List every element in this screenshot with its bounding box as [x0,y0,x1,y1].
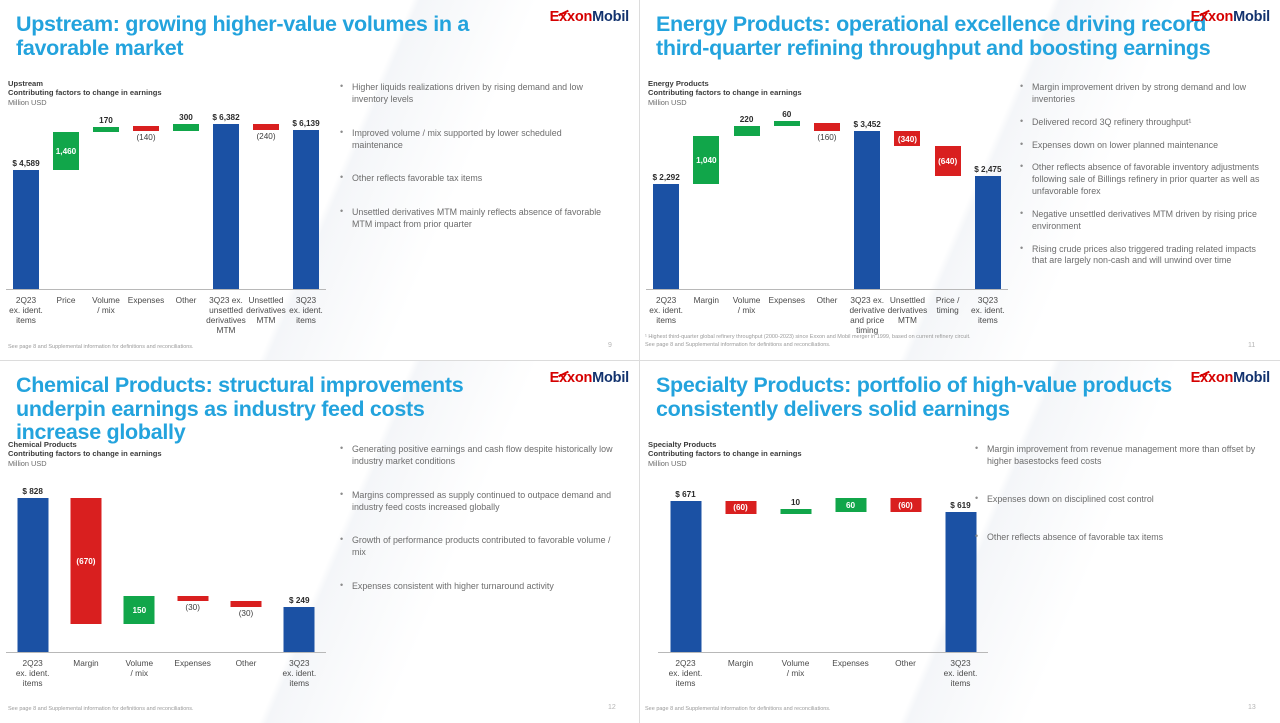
chart-column: $ 6,382 [206,108,246,290]
waterfall-chart: $ 671(60)1060(60)$ 619 [658,483,988,653]
chart-category-cell: Margin [713,656,768,706]
chart-category-row: 2Q23 ex. ident. itemsMarginVolume / mixE… [658,656,988,706]
chart-baseline-axis [6,652,326,653]
page-title: Specialty Products: portfolio of high-va… [656,374,1216,421]
bullet-dot-icon: • [340,580,343,592]
chart-bar[interactable] [213,124,239,290]
chart-category-label: Expenses [820,658,882,668]
chart-bar-value-label: (60) [898,501,913,510]
bullet-dot-icon: • [1020,139,1023,151]
bullet-dot-icon: • [975,531,978,543]
bullet-dot-icon: • [340,127,343,139]
slide-energy-products[interactable]: ExxonMobil Energy Products: operational … [640,0,1280,361]
chart-bar-value-label: (60) [733,503,748,512]
bullet-list: •Margin improvement from revenue managem… [973,444,1258,569]
chart-bar[interactable] [133,126,159,131]
chart-bar-value-label: (140) [136,133,155,142]
chart-column: 60 [823,483,878,653]
chart-category-cell: 2Q23 ex. ident. items [658,656,713,706]
chart-caption-line2: Contributing factors to change in earnin… [8,88,162,97]
bullet-item: •Other reflects favorable tax items [338,173,613,185]
page-number: 9 [608,342,612,349]
chart-column: $ 828 [6,483,59,653]
bullet-text: Margins compressed as supply continued t… [352,490,611,512]
chart-category-axis: 2Q23 ex. ident. itemsPriceVolume / mixEx… [6,293,326,343]
chart-bar-value-label: $ 4,589 [12,159,39,168]
chart-bar[interactable] [975,176,1001,290]
bullet-list: •Higher liquids realizations driven by r… [338,82,613,253]
chart-column: (140) [126,108,166,290]
chart-category-label: 3Q23 ex. ident. items [268,658,330,688]
chart-bar-value-label: $ 2,292 [652,173,679,182]
chart-category-row: 2Q23 ex. ident. itemsMarginVolume / mixE… [6,656,326,706]
chart-caption: Energy Products Contributing factors to … [648,79,802,107]
chart-bar-value-label: (30) [239,609,254,618]
chart-bar[interactable] [653,184,679,290]
chart-bar-value-label: $ 6,139 [292,119,319,128]
bullet-text: Generating positive earnings and cash fl… [352,444,612,466]
chart-bar[interactable] [670,501,701,653]
chart-bar[interactable] [230,601,261,607]
exxonmobil-logo: ExxonMobil [1191,9,1270,25]
chart-caption-line1: Energy Products [648,79,802,88]
bullet-text: Other reflects favorable tax items [352,173,482,183]
chart-bar[interactable] [945,512,976,653]
chart-bar-value-label: (340) [898,135,917,144]
bullet-dot-icon: • [1020,208,1023,220]
chart-bars: $ 671(60)1060(60)$ 619 [658,483,988,653]
bullet-text: Growth of performance products contribut… [352,535,611,557]
chart-caption-units: Million USD [648,459,802,468]
bullet-dot-icon: • [340,206,343,218]
chart-caption-line1: Specialty Products [648,440,802,449]
chart-column: 60 [767,108,807,290]
footnote: See page 8 and Supplemental information … [8,344,338,352]
chart-column: 150 [113,483,166,653]
chart-bar-value-label: 60 [782,110,791,119]
chart-bar[interactable] [774,121,800,126]
chart-bars: $ 2,2921,04022060(160)$ 3,452(340)(640)$… [646,108,1008,290]
chart-bars: $ 828(670)150(30)(30)$ 249 [6,483,326,653]
chart-bars: $ 4,5891,460170(140)300$ 6,382(240)$ 6,1… [6,108,326,290]
chart-category-cell: Margin [59,656,112,706]
chart-category-axis: 2Q23 ex. ident. itemsMarginVolume / mixE… [6,656,326,706]
chart-caption-line1: Upstream [8,79,162,88]
chart-column: $ 249 [273,483,326,653]
waterfall-chart: $ 4,5891,460170(140)300$ 6,382(240)$ 6,1… [6,108,326,290]
chart-column: (160) [807,108,847,290]
bullet-text: Negative unsettled derivatives MTM drive… [1032,209,1257,231]
chart-bar-value-label: 170 [99,116,113,125]
chart-category-cell: Other [878,656,933,706]
bullet-item: •Generating positive earnings and cash f… [338,444,613,468]
chart-column: $ 2,292 [646,108,686,290]
chart-caption: Chemical Products Contributing factors t… [8,440,162,468]
chart-bar[interactable] [284,607,315,653]
chart-category-label: Volume / mix [765,658,827,678]
chart-caption-units: Million USD [8,459,162,468]
bullet-item: •Delivered record 3Q refinery throughput… [1018,117,1268,129]
chart-bar-value-label: (670) [76,557,95,566]
chart-category-label: 2Q23 ex. ident. items [655,658,717,688]
bullet-item: •Expenses consistent with higher turnaro… [338,581,613,593]
bullet-item: •Higher liquids realizations driven by r… [338,82,613,106]
chart-caption-line1: Chemical Products [8,440,162,449]
bullet-item: •Other reflects absence of favorable tax… [973,532,1258,544]
bullet-item: •Negative unsettled derivatives MTM driv… [1018,209,1268,233]
chart-baseline-axis [646,289,1008,290]
bullet-dot-icon: • [975,443,978,455]
chart-column: 170 [86,108,126,290]
bullet-dot-icon: • [340,534,343,546]
chart-column: $ 2,475 [968,108,1008,290]
bullet-item: •Other reflects absence of favorable inv… [1018,162,1268,198]
bullet-item: •Rising crude prices also triggered trad… [1018,244,1268,268]
page-number: 13 [1248,704,1256,711]
chart-column: (340) [887,108,927,290]
chart-bar[interactable] [814,123,840,130]
chart-category-cell: 3Q23 ex. ident. items [933,656,988,706]
slide-specialty-products[interactable]: ExxonMobil Specialty Products: portfolio… [640,361,1280,723]
chart-bar-value-label: $ 2,475 [974,165,1001,174]
chart-bar[interactable] [17,498,48,653]
chart-bar-value-label: $ 6,382 [212,113,239,122]
chart-bar-value-label: 150 [132,606,146,615]
chart-column: 300 [166,108,206,290]
bullet-list: •Margin improvement driven by strong dem… [1018,82,1268,278]
chart-baseline-axis [6,289,326,290]
bullet-dot-icon: • [1020,116,1023,128]
chart-bar-value-label: 220 [740,115,754,124]
chart-caption-line2: Contributing factors to change in earnin… [648,449,802,458]
chart-bar-value-label: $ 619 [950,501,971,510]
chart-bar-value-label: 10 [791,498,800,507]
chart-caption-units: Million USD [648,98,802,107]
waterfall-chart: $ 2,2921,04022060(160)$ 3,452(340)(640)$… [646,108,1008,290]
chart-plot-area: $ 671(60)1060(60)$ 619 [658,483,988,653]
chart-bar-value-label: (30) [185,603,200,612]
chart-bar-value-label: $ 249 [289,596,310,605]
bullet-text: Rising crude prices also triggered tradi… [1032,244,1256,266]
chart-category-label: Margin [710,658,772,668]
bullet-text: Margin improvement driven by strong dema… [1032,82,1246,104]
chart-bar-value-label: 1,040 [696,156,717,165]
exxonmobil-logo: ExxonMobil [550,9,629,25]
exxonmobil-logo: ExxonMobil [1191,370,1270,386]
chart-column: 220 [726,108,766,290]
chart-baseline-axis [658,652,988,653]
exxonmobil-logo: ExxonMobil [550,370,629,386]
bullet-text: Expenses down on disciplined cost contro… [987,494,1154,504]
chart-category-label: 3Q23 ex. ident. items [930,658,992,688]
page-title: Chemical Products: structural improvemen… [16,374,486,445]
chart-category-label: 3Q23 ex. ident. items [275,295,337,325]
bullet-item: •Improved volume / mix supported by lowe… [338,128,613,152]
chart-bar[interactable] [93,127,119,132]
footnote: ¹ Highest third-quarter global refinery … [645,334,1025,350]
bullet-dot-icon: • [1020,161,1023,173]
page-number: 12 [608,704,616,711]
chart-caption: Specialty Products Contributing factors … [648,440,802,468]
chart-bar-value-label: (240) [256,132,275,141]
chart-category-cell: Volume / mix [113,656,166,706]
bullet-text: Unsettled derivatives MTM mainly reflect… [352,207,601,229]
chart-caption-units: Million USD [8,98,162,107]
chart-category-cell: Expenses [823,656,878,706]
bullet-text: Other reflects absence of favorable tax … [987,532,1163,542]
chart-category-cell: 3Q23 ex. ident. items [273,656,326,706]
bullet-list: •Generating positive earnings and cash f… [338,444,613,615]
chart-column: (240) [246,108,286,290]
bullet-dot-icon: • [1020,81,1023,93]
chart-bar[interactable] [13,170,39,290]
bullet-item: •Unsettled derivatives MTM mainly reflec… [338,207,613,231]
chart-column: 1,460 [46,108,86,290]
page-title: Upstream: growing higher-value volumes i… [16,13,486,60]
chart-column: $ 4,589 [6,108,46,290]
slide-chemical-products[interactable]: ExxonMobil Chemical Products: structural… [0,361,640,723]
chart-column: (60) [878,483,933,653]
bullet-text: Higher liquids realizations driven by ri… [352,82,583,104]
chart-category-cell: 3Q23 ex. ident. items [286,293,326,343]
chart-column: (640) [928,108,968,290]
bullet-dot-icon: • [975,493,978,505]
chart-plot-area: $ 4,5891,460170(140)300$ 6,382(240)$ 6,1… [6,108,326,290]
chart-plot-area: $ 2,2921,04022060(160)$ 3,452(340)(640)$… [646,108,1008,290]
bullet-item: •Margins compressed as supply continued … [338,490,613,514]
chart-column: $ 3,452 [847,108,887,290]
bullet-item: •Expenses down on lower planned maintena… [1018,140,1268,152]
chart-bar-value-label: $ 828 [22,487,43,496]
chart-bar-value-label: (640) [938,157,957,166]
chart-category-cell: 2Q23 ex. ident. items [6,656,59,706]
chart-bar-value-label: 60 [846,501,855,510]
chart-bar[interactable] [293,130,319,290]
chart-category-cell: Other [219,656,272,706]
bullet-dot-icon: • [340,489,343,501]
bullet-item: •Growth of performance products contribu… [338,535,613,559]
chart-column: (60) [713,483,768,653]
chart-bar[interactable] [854,131,880,290]
chart-column: $ 671 [658,483,713,653]
chart-bar-value-label: 300 [179,113,193,122]
chart-caption-line2: Contributing factors to change in earnin… [648,88,802,97]
chart-caption-line2: Contributing factors to change in earnin… [8,449,162,458]
chart-category-label: 3Q23 ex. ident. items [957,295,1019,325]
chart-column: $ 6,139 [286,108,326,290]
chart-caption: Upstream Contributing factors to change … [8,79,162,107]
chart-bar[interactable] [177,596,208,602]
chart-bar-value-label: 1,460 [56,147,77,156]
slide-deck: ExxonMobil Upstream: growing higher-valu… [0,0,1280,723]
slide-upstream[interactable]: ExxonMobil Upstream: growing higher-valu… [0,0,640,361]
chart-column: 10 [768,483,823,653]
chart-category-row: 2Q23 ex. ident. itemsPriceVolume / mixEx… [6,293,326,343]
chart-column: (670) [59,483,112,653]
chart-bar-value-label: $ 3,452 [854,120,881,129]
bullet-dot-icon: • [340,172,343,184]
bullet-dot-icon: • [340,81,343,93]
chart-column: (30) [219,483,272,653]
chart-category-axis: 2Q23 ex. ident. itemsMarginVolume / mixE… [658,656,988,706]
bullet-text: Expenses consistent with higher turnarou… [352,581,554,591]
bullet-text: Improved volume / mix supported by lower… [352,128,562,150]
chart-bar[interactable] [780,509,811,514]
bullet-text: Delivered record 3Q refinery throughput¹ [1032,117,1191,127]
bullet-item: •Expenses down on disciplined cost contr… [973,494,1258,506]
footnote: See page 8 and Supplemental information … [8,706,338,714]
chart-bar[interactable] [173,124,199,132]
chart-category-cell: Volume / mix [768,656,823,706]
bullet-item: •Margin improvement from revenue managem… [973,444,1258,468]
chart-category-label: Other [875,658,937,668]
chart-bar[interactable] [734,126,760,136]
page-title: Energy Products: operational excellence … [656,13,1216,60]
bullet-text: Other reflects absence of favorable inve… [1032,162,1259,196]
chart-column: (30) [166,483,219,653]
chart-column: 1,040 [686,108,726,290]
bullet-item: •Margin improvement driven by strong dem… [1018,82,1268,106]
chart-bar[interactable] [253,124,279,130]
footnote: See page 8 and Supplemental information … [645,706,975,714]
bullet-text: Expenses down on lower planned maintenan… [1032,140,1218,150]
chart-category-cell: Expenses [166,656,219,706]
waterfall-chart: $ 828(670)150(30)(30)$ 249 [6,483,326,653]
chart-bar-value-label: $ 671 [675,490,696,499]
chart-plot-area: $ 828(670)150(30)(30)$ 249 [6,483,326,653]
chart-bar-value-label: (160) [817,133,836,142]
page-number: 11 [1248,342,1255,349]
bullet-dot-icon: • [1020,243,1023,255]
bullet-text: Margin improvement from revenue manageme… [987,444,1255,466]
bullet-dot-icon: • [340,443,343,455]
